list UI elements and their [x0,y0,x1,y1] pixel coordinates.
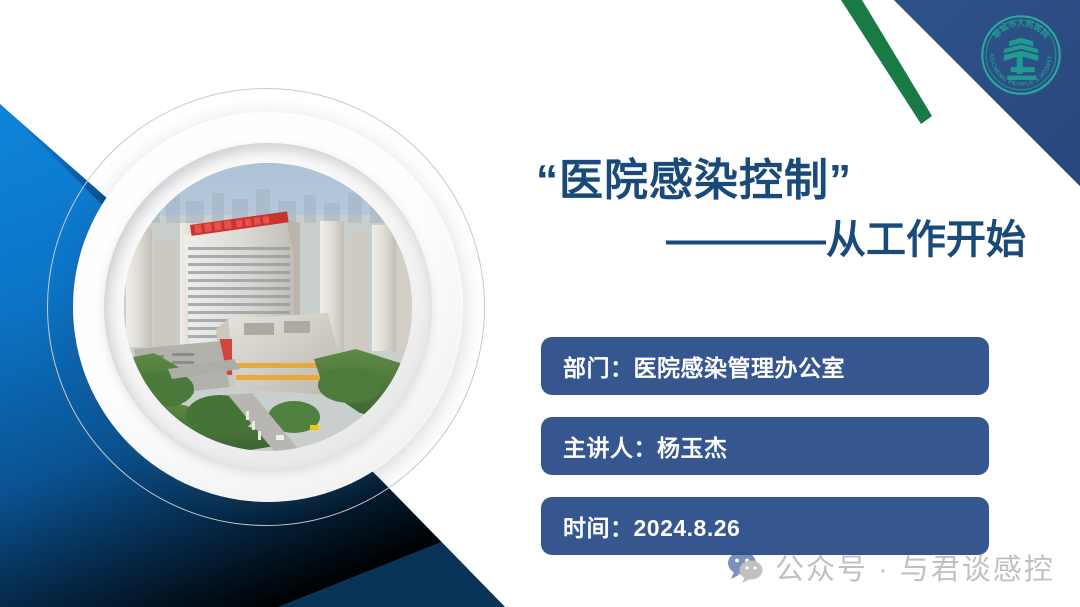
hospital-logo: 聊城市人民医院 LIAOCHENG PEOPLE'S HOSPITAL [978,12,1064,98]
info-box-date: 时间：2024.8.26 [541,497,989,555]
info-box-speaker: 主讲人：杨玉杰 [541,417,989,475]
info-box-department: 部门：医院感染管理办公室 [541,337,989,395]
slide-title: “医院感染控制” [536,155,1036,207]
hospital-aerial-photo [124,163,412,451]
title-block: “医院感染控制” ————从工作开始 [536,155,1036,265]
presentation-slide: “医院感染控制” ————从工作开始 部门：医院感染管理办公室 主讲人：杨玉杰 … [0,0,1080,607]
info-box-list: 部门：医院感染管理办公室 主讲人：杨玉杰 时间：2024.8.26 [541,337,989,577]
slide-subtitle: ————从工作开始 [536,215,1036,265]
